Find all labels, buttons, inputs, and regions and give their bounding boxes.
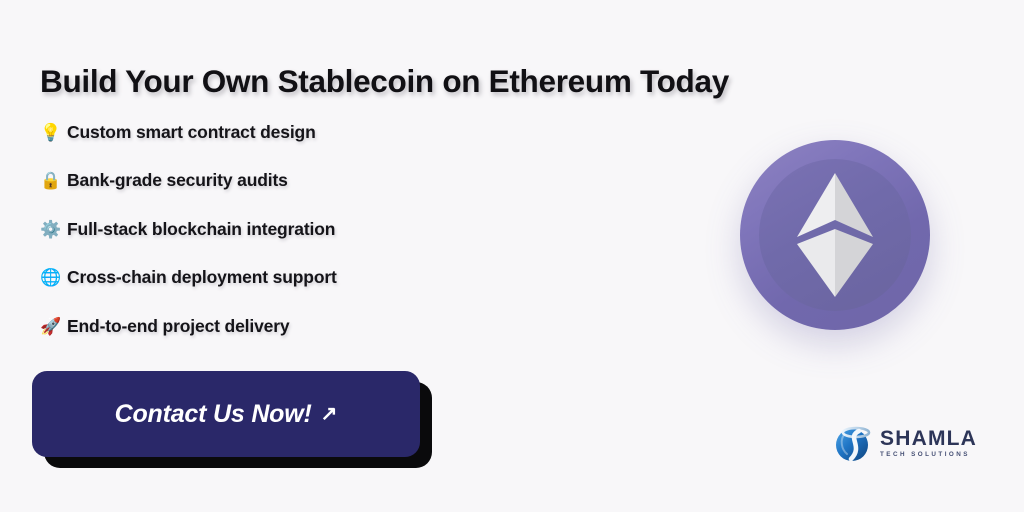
gear-icon: ⚙️ — [40, 221, 67, 238]
list-item-label: End-to-end project delivery — [67, 316, 290, 337]
list-item: 🔒 Bank-grade security audits — [40, 157, 520, 206]
list-item-label: Cross-chain deployment support — [67, 267, 337, 288]
promo-banner: Build Your Own Stablecoin on Ethereum To… — [0, 0, 1024, 512]
page-title: Build Your Own Stablecoin on Ethereum To… — [40, 63, 860, 100]
cta-button-wrapper: Contact Us Now! ↗ — [32, 371, 432, 468]
feature-list: 💡 Custom smart contract design 🔒 Bank-gr… — [40, 108, 520, 351]
rocket-icon: 🚀 — [40, 318, 67, 335]
arrow-up-right-icon: ↗ — [321, 401, 338, 426]
globe-icon: 🌐 — [40, 269, 67, 286]
contact-us-button[interactable]: Contact Us Now! ↗ — [32, 371, 420, 457]
shamla-logo-text: SHAMLA TECH SOLUTIONS — [880, 428, 977, 459]
shamla-logo-tagline: TECH SOLUTIONS — [880, 452, 977, 458]
cta-button-label: Contact Us Now! — [115, 400, 312, 429]
lightbulb-icon: 💡 — [40, 124, 67, 141]
list-item-label: Bank-grade security audits — [67, 170, 288, 191]
list-item: 🌐 Cross-chain deployment support — [40, 254, 520, 303]
shamla-sphere-logo-icon — [832, 421, 876, 465]
list-item: ⚙️ Full-stack blockchain integration — [40, 205, 520, 254]
shamla-logo: SHAMLA TECH SOLUTIONS — [832, 419, 984, 467]
ethereum-coin-icon — [740, 140, 930, 330]
ethereum-diamond-icon — [795, 173, 875, 297]
list-item-label: Custom smart contract design — [67, 122, 316, 143]
lock-icon: 🔒 — [40, 172, 67, 189]
shamla-logo-name: SHAMLA — [880, 428, 977, 449]
list-item: 🚀 End-to-end project delivery — [40, 302, 520, 351]
list-item: 💡 Custom smart contract design — [40, 108, 520, 157]
list-item-label: Full-stack blockchain integration — [67, 219, 335, 240]
